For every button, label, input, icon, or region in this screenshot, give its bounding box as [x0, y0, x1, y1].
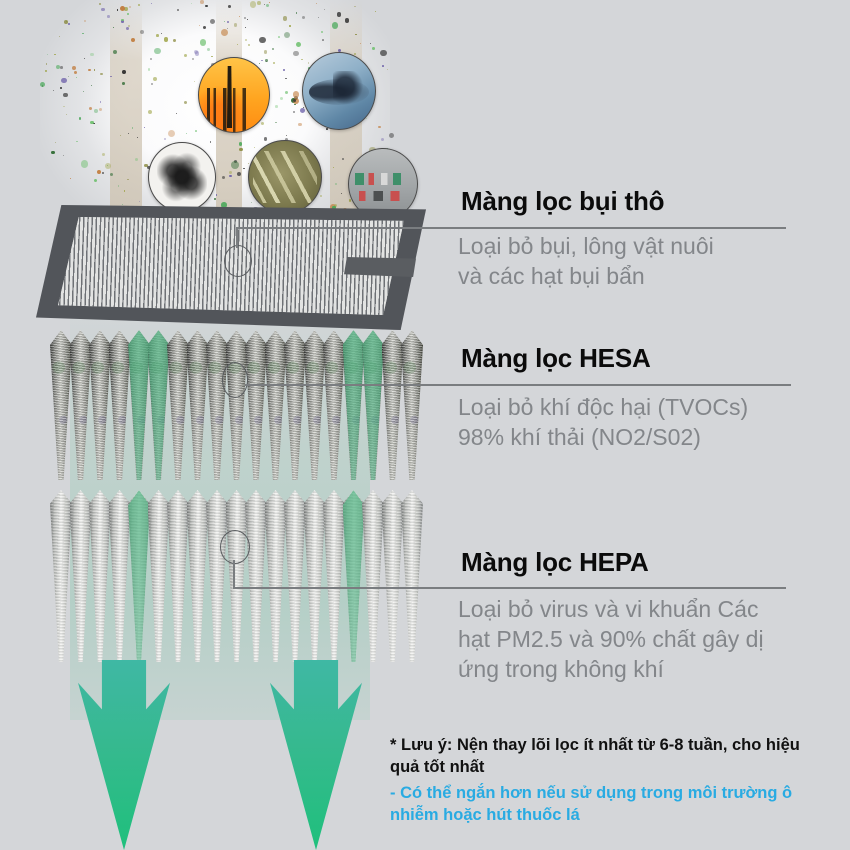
dust-particle: [318, 17, 319, 18]
dust-particle: [324, 9, 325, 10]
dust-particle: [239, 142, 243, 146]
dust-particle: [283, 16, 287, 20]
dust-particle: [207, 48, 210, 51]
filter-pleat: [265, 330, 287, 480]
dust-particle: [161, 33, 162, 34]
filter-pleat: [304, 330, 326, 480]
dust-particle: [93, 123, 95, 125]
filter-pleat: [206, 330, 228, 480]
dust-particle: [264, 4, 265, 5]
dust-particle: [154, 48, 161, 55]
dust-particle: [60, 66, 63, 69]
dust-particle: [360, 43, 361, 44]
dust-particle: [210, 19, 215, 24]
dust-particle: [370, 43, 371, 44]
pre-filter-title: Màng lọc bụi thô: [461, 188, 664, 214]
filter-pleat: [323, 490, 345, 662]
dust-particle: [205, 5, 207, 7]
dust-particle: [105, 163, 111, 169]
dust-particle: [97, 170, 101, 174]
dust-particle: [184, 54, 187, 57]
dust-particle: [60, 87, 62, 89]
dust-particle: [200, 0, 204, 4]
dust-particle: [151, 83, 154, 86]
dust-particle: [211, 56, 213, 58]
dust-particle: [335, 183, 337, 185]
filter-pleat: [265, 490, 287, 662]
dust-particle: [168, 130, 175, 137]
dust-particle: [239, 148, 242, 151]
dust-particle: [129, 6, 131, 8]
dust-particle: [107, 15, 110, 18]
dust-particle: [245, 39, 247, 41]
filter-pleat: [206, 490, 228, 662]
dust-particle: [250, 1, 257, 8]
dust-particle: [117, 9, 119, 11]
dust-particle: [261, 122, 264, 125]
dust-particle: [382, 65, 384, 67]
soot-dust-particles-icon: [148, 142, 216, 212]
dust-particle: [227, 21, 229, 23]
filter-pleat: [343, 330, 365, 480]
dust-particle: [296, 12, 298, 14]
dust-particle: [68, 23, 70, 25]
dust-particle: [101, 8, 105, 12]
dust-particle: [148, 68, 151, 71]
filter-pleat: [245, 490, 267, 662]
dust-particle: [380, 50, 386, 56]
dust-particle: [269, 2, 270, 3]
dust-particle: [322, 39, 324, 41]
dust-particle: [283, 69, 286, 72]
dust-particle: [203, 26, 206, 29]
dust-particle: [280, 97, 283, 100]
filter-pleat: [89, 330, 111, 480]
dust-particle: [135, 158, 138, 161]
filter-pleat: [128, 330, 150, 480]
dust-particle: [248, 163, 249, 164]
dust-particle: [102, 172, 104, 174]
dust-particle: [68, 76, 70, 78]
hesa-marker-circle: [222, 362, 248, 398]
dust-particle: [90, 53, 93, 56]
filter-pleat: [70, 490, 92, 662]
dust-particle: [254, 147, 256, 149]
filter-pleat: [323, 330, 345, 480]
dust-particle: [259, 37, 265, 43]
dust-particle: [199, 25, 200, 26]
dust-particle: [320, 195, 322, 197]
dust-particle: [245, 27, 246, 28]
dust-particle: [285, 91, 288, 94]
dust-particle: [229, 175, 231, 177]
filter-pleat: [70, 330, 92, 480]
dust-particle: [194, 81, 195, 82]
polluted-air-particles: [40, 0, 390, 215]
dust-particle: [140, 30, 144, 34]
air-column-band: [110, 0, 142, 215]
dust-particle: [100, 101, 102, 103]
filter-pleat: [401, 490, 423, 662]
dust-particle: [389, 133, 394, 138]
dust-particle: [100, 73, 103, 76]
dust-particle: [151, 3, 152, 4]
dust-particle: [264, 50, 268, 54]
dust-particle: [248, 44, 251, 47]
hesa-title: Màng lọc HESA: [461, 345, 651, 371]
filter-pleat: [401, 330, 423, 480]
clean-air-arrow-left: [78, 660, 170, 850]
dust-particle: [89, 107, 92, 110]
dust-particle: [273, 62, 275, 64]
filter-pleat: [109, 330, 131, 480]
dust-particle: [342, 158, 344, 160]
filter-pleat: [382, 330, 404, 480]
dust-particle: [176, 113, 177, 114]
dust-particle: [120, 6, 125, 11]
dust-particle: [247, 19, 248, 20]
filter-pleat: [226, 490, 248, 662]
filter-pleat: [284, 330, 306, 480]
hepa-leader-line: [233, 587, 786, 589]
dust-particle: [76, 77, 77, 78]
clean-air-arrow-right: [270, 660, 362, 850]
dust-particle: [192, 58, 194, 60]
dust-particle: [266, 4, 269, 7]
dust-particle: [156, 34, 159, 37]
industrial-factory-smokestack-icon: [198, 57, 270, 133]
dust-particle: [186, 133, 187, 134]
dust-particle: [308, 62, 310, 64]
dust-particle: [285, 78, 287, 80]
dust-particle: [66, 114, 67, 115]
dust-particle: [53, 90, 54, 91]
dust-particle: [293, 91, 300, 98]
filter-pleat: [167, 330, 189, 480]
dust-particle: [46, 63, 47, 64]
dust-particle: [378, 126, 381, 129]
dust-particle: [63, 93, 68, 98]
hepa-leader-stem: [233, 560, 235, 588]
replacement-note-primary: * Lưu ý: Nện thay lõi lọc ít nhất từ 6-8…: [390, 734, 800, 779]
dust-particle: [375, 11, 376, 12]
dust-particle: [228, 5, 231, 8]
hesa-leader-line: [245, 384, 791, 386]
dust-particle: [300, 108, 305, 113]
dust-particle: [54, 54, 55, 55]
hepa-marker-circle: [220, 530, 250, 564]
dust-particle: [150, 58, 153, 61]
dust-particle: [387, 69, 388, 70]
dust-particle: [301, 59, 302, 60]
dust-particle: [51, 151, 55, 155]
dust-particle: [47, 54, 48, 55]
filter-pleat: [382, 490, 404, 662]
dust-particle: [94, 179, 97, 182]
dust-particle: [195, 51, 199, 55]
dust-particle: [102, 153, 106, 157]
dust-particle: [61, 78, 67, 84]
dust-particle: [173, 39, 176, 42]
filter-pleat: [304, 490, 326, 662]
dust-particle: [88, 69, 90, 71]
filter-pleat: [109, 490, 131, 662]
dust-particle: [381, 138, 384, 141]
pre-filter-description: Loại bỏ bụi, lông vật nuôi và các hạt bụ…: [458, 232, 818, 292]
dust-particle: [76, 141, 77, 142]
dust-particle: [64, 20, 68, 24]
dust-particle: [126, 27, 129, 30]
dust-particle: [234, 23, 238, 27]
dust-particle: [72, 66, 76, 70]
dust-particle: [148, 110, 152, 114]
dust-particle: [341, 193, 342, 194]
dust-particle: [261, 60, 262, 61]
dust-particle: [316, 3, 317, 4]
dust-particle: [326, 128, 328, 130]
air-purifier-filter-stack-exploded-view: [0, 0, 430, 850]
pre-filter-leader-stem: [236, 228, 238, 248]
dust-particle: [153, 77, 158, 82]
dust-particle: [259, 63, 260, 64]
pre-filter-handle-tab: [344, 257, 416, 277]
dust-particle: [59, 36, 60, 37]
dust-particle: [289, 25, 291, 27]
hesa-carbon-pleated-layer: [50, 330, 418, 480]
dust-particle: [84, 58, 85, 59]
filter-pleat: [50, 490, 72, 662]
hesa-description: Loại bỏ khí độc hại (TVOCs) 98% khí thải…: [458, 393, 818, 453]
dust-particle: [94, 109, 98, 113]
filter-pleat: [362, 490, 384, 662]
replacement-note-secondary: - Có thể ngắn hơn nếu sử dụng trong môi …: [390, 782, 792, 827]
dust-particle: [372, 47, 375, 50]
dust-particle: [122, 82, 125, 85]
dust-particle: [275, 105, 278, 108]
dust-particle: [244, 17, 246, 19]
dust-particle: [122, 70, 126, 74]
filter-pleat: [148, 330, 170, 480]
dust-particle: [293, 51, 299, 57]
dust-particle: [177, 9, 179, 11]
dust-particle: [74, 71, 77, 74]
hepa-title: Màng lọc HEPA: [461, 549, 649, 575]
dust-particle: [284, 32, 290, 38]
dust-particle: [286, 135, 287, 136]
filter-pleat: [343, 490, 365, 662]
dust-particle: [144, 127, 145, 128]
dust-particle: [94, 69, 96, 71]
dust-particle: [91, 85, 92, 86]
dust-particle: [184, 101, 187, 104]
vehicle-exhaust-smoke-icon: [302, 52, 376, 130]
pre-filter-leader-line: [236, 227, 786, 229]
mold-spores-icon: [248, 140, 322, 214]
dust-particle: [124, 190, 125, 191]
dust-particle: [200, 39, 207, 46]
dust-particle: [82, 33, 84, 35]
dust-particle: [164, 138, 166, 140]
filter-pleat: [187, 490, 209, 662]
dust-particle: [275, 122, 276, 123]
dust-particle: [81, 160, 89, 168]
dust-particle: [90, 121, 94, 125]
dust-particle: [264, 137, 268, 141]
dust-particle: [83, 91, 84, 92]
dust-particle: [243, 168, 245, 170]
hepa-description: Loại bỏ virus và vi khuẩn Các hạt PM2.5 …: [458, 595, 830, 685]
dust-particle: [296, 42, 301, 47]
dust-particle: [99, 3, 101, 5]
dust-particle: [321, 31, 323, 33]
filter-pleat: [148, 490, 170, 662]
dust-particle: [63, 106, 65, 108]
dust-particle: [298, 123, 302, 127]
filter-pleat: [362, 330, 384, 480]
filter-pleat: [50, 330, 72, 480]
dust-particle: [191, 3, 192, 4]
filter-pleat: [187, 330, 209, 480]
dust-particle: [302, 16, 305, 19]
filter-pleat: [128, 490, 150, 662]
dust-particle: [293, 111, 295, 113]
filter-pleat: [226, 330, 248, 480]
dust-particle: [278, 36, 280, 38]
pre-filter-marker-circle: [224, 245, 252, 277]
dust-particle: [120, 135, 121, 136]
dust-particle: [84, 20, 86, 22]
dust-particle: [210, 141, 212, 143]
dust-particle: [127, 179, 128, 180]
dust-particle: [79, 117, 81, 119]
dust-particle: [99, 108, 102, 111]
filter-pleat: [167, 490, 189, 662]
dust-particle: [45, 70, 46, 71]
filter-pleat: [245, 330, 267, 480]
dust-particle: [164, 37, 168, 41]
dust-particle: [55, 142, 56, 143]
dust-particle: [231, 161, 239, 169]
dust-particle: [63, 155, 64, 156]
dust-particle: [70, 178, 71, 179]
dust-particle: [195, 130, 197, 132]
dust-particle: [272, 48, 275, 51]
infographic-canvas: Màng lọc bụi thô Loại bỏ bụi, lông vật n…: [0, 0, 850, 850]
dust-particle: [257, 1, 261, 5]
filter-pleat: [284, 490, 306, 662]
filter-pleat: [89, 490, 111, 662]
